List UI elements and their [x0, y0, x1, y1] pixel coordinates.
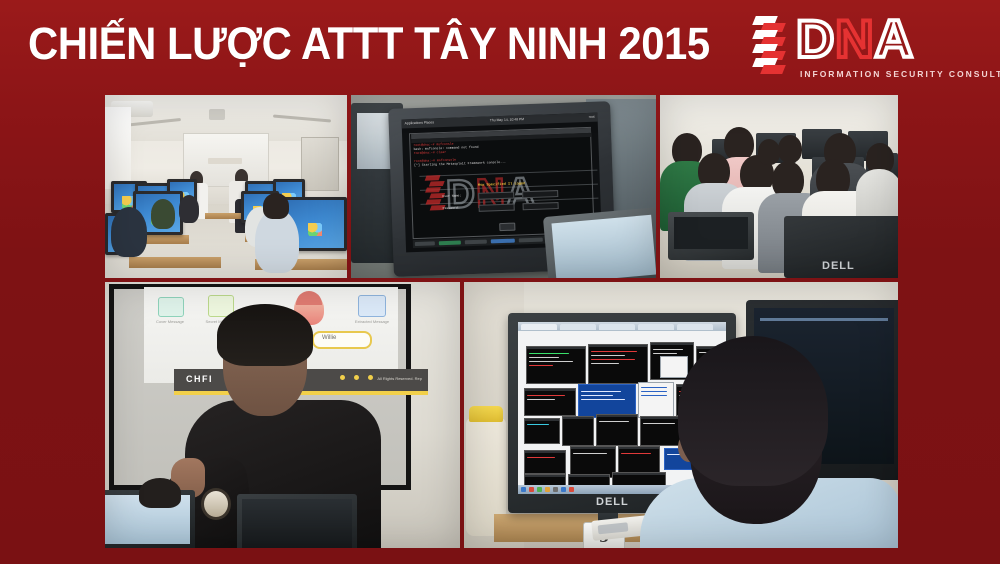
chfi-brand: CHFI [186, 374, 213, 384]
dna-logo-tagline: INFORMATION SECURITY CONSULTING [800, 69, 1000, 79]
viewer-hair [678, 336, 828, 486]
page-title: CHIẾN LƯỢC ATTT TÂY NINH 2015 [28, 18, 710, 70]
speaker-hair [217, 304, 313, 366]
monitor-brand-badge: DELL [784, 216, 898, 278]
slide-caption-3: Extracted Message [350, 319, 394, 324]
header-bar: CHIẾN LƯỢC ATTT TÂY NINH 2015 DNA INFORM… [0, 0, 1000, 92]
dna-letter-a: A [875, 10, 914, 69]
photo-speaker-chfi: Cover Message Secret Message Extracted M… [105, 282, 460, 548]
slide-caption-1: Cover Message [152, 319, 188, 324]
browser-tabbar[interactable] [518, 322, 726, 331]
photo-group-workstations: DELL [660, 95, 898, 278]
dna-letter-d: D [796, 10, 835, 69]
slide-root: CHIẾN LƯỢC ATTT TÂY NINH 2015 DNA INFORM… [0, 0, 1000, 564]
wristwatch [201, 488, 231, 520]
pass-label: Password: [443, 206, 460, 210]
submit-button[interactable] [499, 223, 515, 232]
dna-helix-icon [752, 16, 794, 74]
terminal-line-3: root@dna:~# clear [414, 151, 447, 156]
photo-screenshot-wall: DELL 5 [464, 282, 898, 548]
terminal-line-5: [*] Starting the Metasploit Framework co… [414, 161, 506, 168]
dna-logo: DNA INFORMATION SECURITY CONSULTING [748, 12, 984, 86]
dna-letter-n: N [835, 10, 874, 69]
photo-gallery-grid: Applications Places Thu May 14, 10:48 PM… [105, 95, 898, 548]
photo-metasploit-monitor: Applications Places Thu May 14, 10:48 PM… [351, 95, 656, 278]
photo-classroom-lab [105, 95, 347, 278]
slide-bubble: Willie [312, 331, 372, 349]
user-label: User Name: [442, 194, 461, 198]
dna-logo-wordmark: DNA [796, 12, 914, 67]
